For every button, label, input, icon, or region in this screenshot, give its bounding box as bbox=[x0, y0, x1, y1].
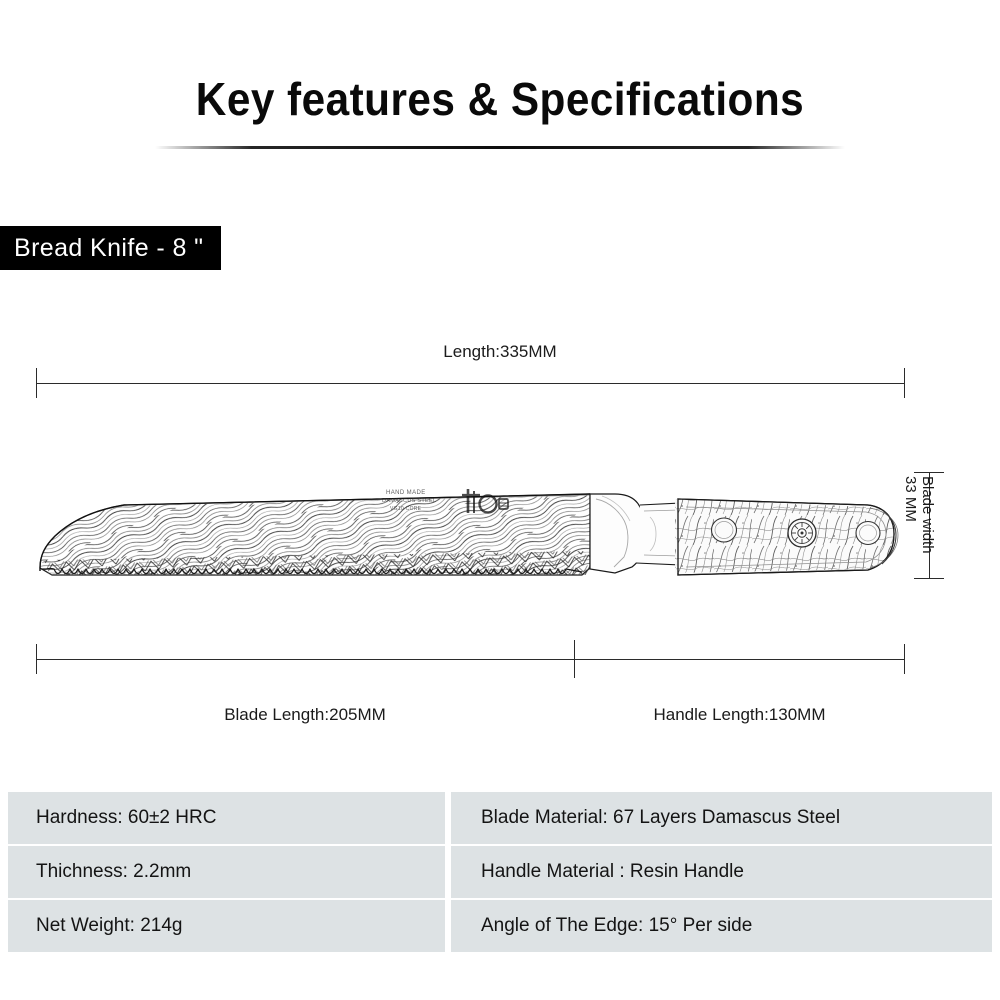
knife-bolster bbox=[590, 494, 682, 573]
blade-width-label-line1: Blade width bbox=[919, 476, 936, 576]
page-title: Key features & Specifications bbox=[40, 72, 960, 126]
title-divider bbox=[155, 146, 845, 149]
handle-length-label: Handle Length:130MM bbox=[574, 705, 905, 725]
spec-cell-handle-material: Handle Material : Resin Handle bbox=[451, 846, 992, 898]
blade-length-label: Blade Length:205MM bbox=[36, 705, 574, 725]
spec-cell-edge-angle: Angle of The Edge: 15° Per side bbox=[451, 900, 992, 952]
blade-width-cap-top bbox=[914, 472, 944, 473]
overall-length-label: Length:335MM bbox=[0, 342, 1000, 362]
blade-width-label: Blade width 33 MM bbox=[902, 476, 936, 576]
spec-cell-net-weight: Net Weight: 214g bbox=[8, 900, 445, 952]
knife-illustration: HAND MADE DAMASCUS STEEL VG10 CORE bbox=[30, 455, 920, 600]
blade-width-cap-bottom bbox=[914, 578, 944, 579]
bottom-tick-right bbox=[904, 644, 905, 674]
blade-width-label-line2: 33 MM bbox=[902, 476, 919, 576]
svg-text:DAMASCUS STEEL: DAMASCUS STEEL bbox=[382, 498, 436, 504]
spec-cell-thickness: Thichness: 2.2mm bbox=[8, 846, 445, 898]
overall-length-tick-right bbox=[904, 368, 905, 398]
svg-text:VG10 CORE: VG10 CORE bbox=[390, 506, 422, 512]
handle-mosaic-pin bbox=[788, 519, 816, 547]
overall-length-dimension-line bbox=[36, 383, 905, 384]
svg-text:HAND MADE: HAND MADE bbox=[386, 490, 426, 496]
bottom-tick-middle bbox=[574, 640, 575, 678]
overall-length-tick-left bbox=[36, 368, 37, 398]
product-name-banner: Bread Knife - 8 " bbox=[0, 226, 221, 270]
bottom-dimension-line bbox=[36, 659, 905, 660]
knife-handle bbox=[670, 495, 910, 580]
spec-cell-hardness: Hardness: 60±2 HRC bbox=[8, 792, 445, 844]
spec-cell-blade-material: Blade Material: 67 Layers Damascus Steel bbox=[451, 792, 992, 844]
specifications-table: Hardness: 60±2 HRC Blade Material: 67 La… bbox=[8, 792, 992, 952]
bottom-tick-left bbox=[36, 644, 37, 674]
